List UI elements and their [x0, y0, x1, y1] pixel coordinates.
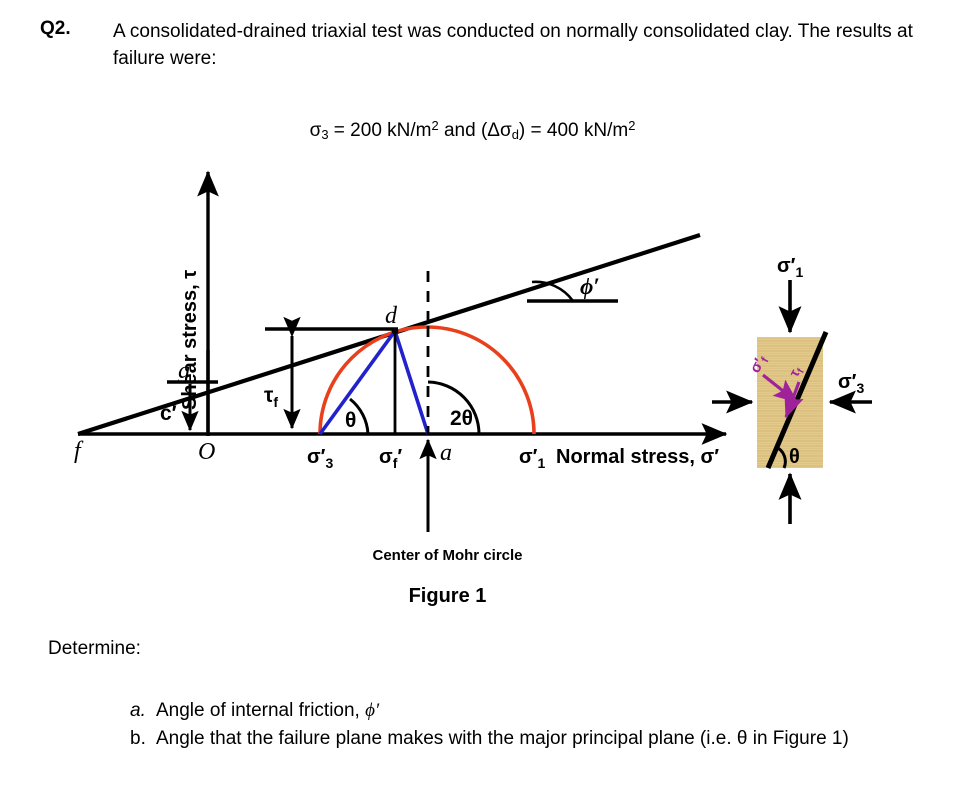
sigma-f-axis-label: σf′ — [379, 446, 402, 471]
given-equation-2: ) = 400 kN/m — [519, 120, 628, 141]
given-and: and (Δσ — [439, 120, 512, 141]
determine-items: a. Angle of internal friction, ϕ′ b. Ang… — [130, 697, 930, 753]
d-to-center-line — [395, 331, 428, 434]
sigma1-axis-label: σ′1 — [519, 446, 545, 471]
given-exponent-2: 2 — [628, 118, 635, 133]
theta-angle-label: θ — [345, 409, 356, 432]
given-exponent-1: 2 — [432, 118, 439, 133]
determine-item-a-symbol: ϕ′ — [365, 700, 379, 721]
determine-item-b-marker: b. — [130, 725, 146, 753]
determine-heading: Determine: — [48, 638, 141, 660]
tau-f-label: τf — [264, 384, 278, 410]
determine-item-b-text: Angle that the failure plane makes with … — [156, 728, 849, 749]
specimen-sigma1-label: σ′1 — [777, 255, 803, 280]
determine-item-b: b. Angle that the failure plane makes wi… — [130, 725, 930, 753]
determine-item-a: a. Angle of internal friction, ϕ′ — [130, 697, 930, 725]
given-values: σ3 = 200 kN/m2 and (Δσd) = 400 kN/m2 — [40, 118, 945, 142]
question-number: Q2. — [40, 18, 71, 40]
determine-item-a-text: Angle of internal friction, — [156, 700, 365, 721]
soil-specimen-group: θ σ′f τf σ′1 σ′3 — [712, 255, 872, 524]
cohesion-label: c′ — [160, 402, 177, 425]
point-f-label: f — [74, 438, 84, 464]
specimen-theta-label: θ — [789, 446, 800, 468]
given-sub-d: d — [512, 127, 519, 142]
given-equation-1: = 200 kN/m — [329, 120, 432, 141]
sigma3-subscript: 3 — [321, 127, 328, 142]
center-of-mohr-circle-caption: Center of Mohr circle — [0, 547, 975, 564]
question-text: A consolidated-drained triaxial test was… — [113, 18, 943, 72]
sigma3-symbol: σ — [310, 120, 322, 141]
sigma3-axis-label: σ′3 — [307, 446, 333, 471]
phi-angle-label: ϕ′ — [580, 274, 600, 299]
worksheet-page: Q2. A consolidated-drained triaxial test… — [0, 0, 975, 807]
normal-stress-axis-label: Normal stress, σ′ — [556, 446, 719, 468]
two-theta-angle-label: 2θ — [450, 407, 473, 430]
point-g-label: g — [178, 358, 190, 384]
determine-item-a-marker: a. — [130, 697, 146, 725]
specimen-sigma3-label: σ′3 — [838, 371, 864, 396]
point-O-label: O — [198, 439, 215, 465]
figure-caption: Figure 1 — [0, 585, 975, 608]
point-d-label: d — [385, 303, 398, 329]
point-a-label: a — [440, 440, 452, 466]
